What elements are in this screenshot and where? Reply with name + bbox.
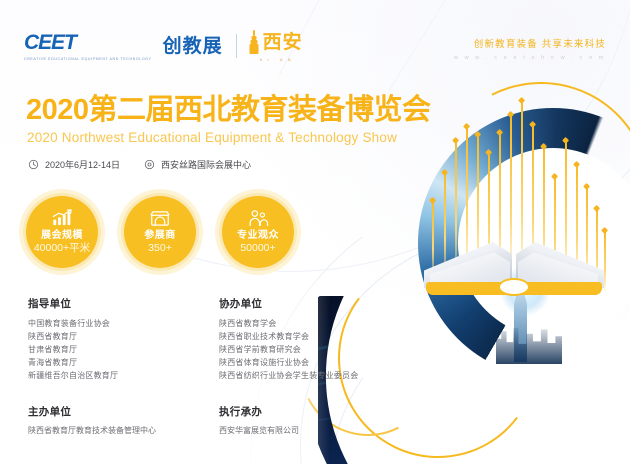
event-poster: CEET CREATIVE EDUCATIONAL EQUIPMENT AND … (0, 0, 630, 464)
ceet-logo: CEET CREATIVE EDUCATIONAL EQUIPMENT AND … (24, 32, 152, 61)
list-item: 青海省教育厅 (28, 357, 183, 370)
city-badge: 西安 X I ' A N (250, 30, 303, 62)
tagline-block: 创新教育装备 共享未来科技 w w w . c e e t s h o w . … (454, 36, 606, 61)
stat-label: 专业观众 (237, 230, 279, 241)
stat-value: 40000+平米 (34, 242, 90, 255)
tagline-text: 创新教育装备 共享未来科技 (454, 36, 606, 50)
event-date: 2020年6月12-14日 (28, 158, 120, 171)
list-item: 新疆维吾尔自治区教育厅 (28, 370, 183, 383)
brand-header: CEET CREATIVE EDUCATIONAL EQUIPMENT AND … (24, 30, 303, 62)
ceet-wordmark: CEET (24, 32, 152, 53)
clock-icon (28, 159, 39, 170)
host-unit-column: 主办单位 陕西省教育厅教育技术装备管理中心 (28, 404, 183, 437)
host-columns: 主办单位 陕西省教育厅教育技术装备管理中心 执行承办 西安华富展览有限公司 (28, 404, 419, 437)
executor-unit-column: 执行承办 西安华富展览有限公司 (219, 404, 419, 437)
event-venue: 西安丝路国际会展中心 (144, 158, 251, 171)
page-subtitle: 2020 Northwest Educational Equipment & T… (27, 130, 397, 145)
list-item: 陕西省学前教育研究会 (219, 344, 419, 357)
ceet-logo-cn: 创教展 (163, 37, 223, 56)
stat-exhibitors: 参展商 350+ (124, 196, 196, 268)
website-url: w w w . c e e t s h o w . c o m (454, 55, 606, 61)
background-diagonal-line (388, 0, 452, 91)
host-unit-heading: 主办单位 (28, 404, 183, 419)
city-name-cn: 西安 (263, 33, 303, 52)
event-venue-text: 西安丝路国际会展中心 (161, 158, 251, 171)
pagoda-tower-icon (250, 30, 259, 54)
guidance-units-column: 指导单位 中国教育装备行业协会 陕西省教育厅 甘肃省教育厅 青海省教育厅 新疆维… (28, 296, 183, 383)
stat-label: 展会规模 (41, 230, 83, 241)
list-item: 甘肃省教育厅 (28, 344, 183, 357)
stat-value: 350+ (148, 242, 172, 255)
ceet-tagline-en: CREATIVE EDUCATIONAL EQUIPMENT AND TECHN… (24, 57, 152, 61)
list-item: 西安华富展览有限公司 (219, 425, 419, 437)
stat-value: 50000+ (240, 242, 275, 255)
organizer-columns: 指导单位 中国教育装备行业协会 陕西省教育厅 甘肃省教育厅 青海省教育厅 新疆维… (28, 296, 419, 383)
event-meta: 2020年6月12-14日 西安丝路国际会展中心 (28, 158, 251, 171)
book-spine-notch (498, 278, 530, 296)
hero-graphic (396, 82, 630, 318)
list-item: 中国教育装备行业协会 (28, 318, 183, 331)
list-item: 陕西省教育学会 (219, 318, 419, 331)
list-item: 陕西省职业技术教育学会 (219, 331, 419, 344)
open-book-graphic (424, 242, 604, 304)
city-name-en: X I ' A N (260, 58, 293, 62)
audience-people-icon (247, 209, 269, 227)
stat-label: 参展商 (144, 230, 176, 241)
logo-divider (236, 34, 237, 58)
list-item: 陕西省教育厅 (28, 331, 183, 344)
coorganizer-units-column: 协办单位 陕西省教育学会 陕西省职业技术教育学会 陕西省学前教育研究会 陕西省体… (219, 296, 419, 383)
guidance-units-heading: 指导单位 (28, 296, 183, 311)
bar-chart-growth-icon (51, 209, 73, 227)
list-item: 陕西省教育厅教育技术装备管理中心 (28, 425, 183, 437)
list-item: 陕西省纺织行业协会学生装专业委员会 (219, 370, 419, 383)
list-item: 陕西省体育设施行业协会 (219, 357, 419, 370)
city-skyline-shape (496, 322, 562, 364)
stats-row: 展会规模 40000+平米 参展商 350+ (26, 196, 294, 268)
executor-unit-heading: 执行承办 (219, 404, 419, 419)
storefront-icon (149, 209, 171, 227)
page-title: 2020第二届西北教育装备博览会 (26, 96, 431, 125)
event-date-text: 2020年6月12-14日 (45, 158, 120, 171)
coorganizer-units-heading: 协办单位 (219, 296, 419, 311)
stat-exhibition-area: 展会规模 40000+平米 (26, 196, 98, 268)
location-pin-icon (144, 159, 155, 170)
stat-visitors: 专业观众 50000+ (222, 196, 294, 268)
